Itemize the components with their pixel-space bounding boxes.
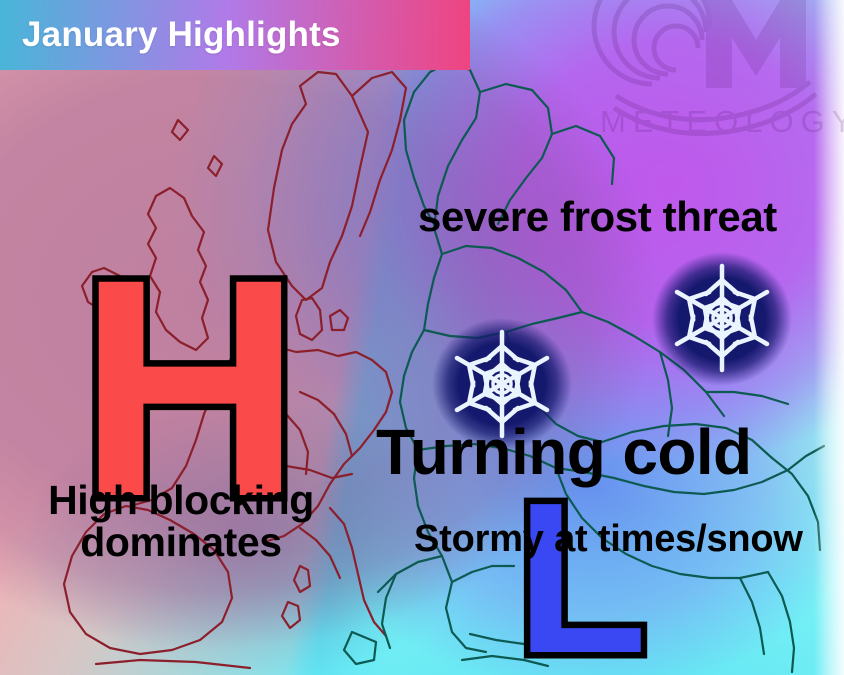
annotation-stormy-at-times: Stormy at times/snow <box>414 520 803 559</box>
annotation-high-blocking: High blocking dominates <box>12 480 350 564</box>
page-title: January Highlights <box>0 15 341 55</box>
snowflake-icon-east <box>652 252 792 386</box>
snowflake-crystal-icon <box>652 252 792 384</box>
low-pressure-symbol: L <box>516 470 647 675</box>
header-banner: January Highlights <box>0 0 470 70</box>
annotation-severe-frost: severe frost threat <box>418 196 777 239</box>
annotation-turning-cold: Turning cold <box>376 420 752 485</box>
weather-graphic: METEOLOGY <box>0 0 844 675</box>
annotation-high-blocking-line2: dominates <box>12 522 350 564</box>
annotation-high-blocking-line1: High blocking <box>48 477 314 523</box>
